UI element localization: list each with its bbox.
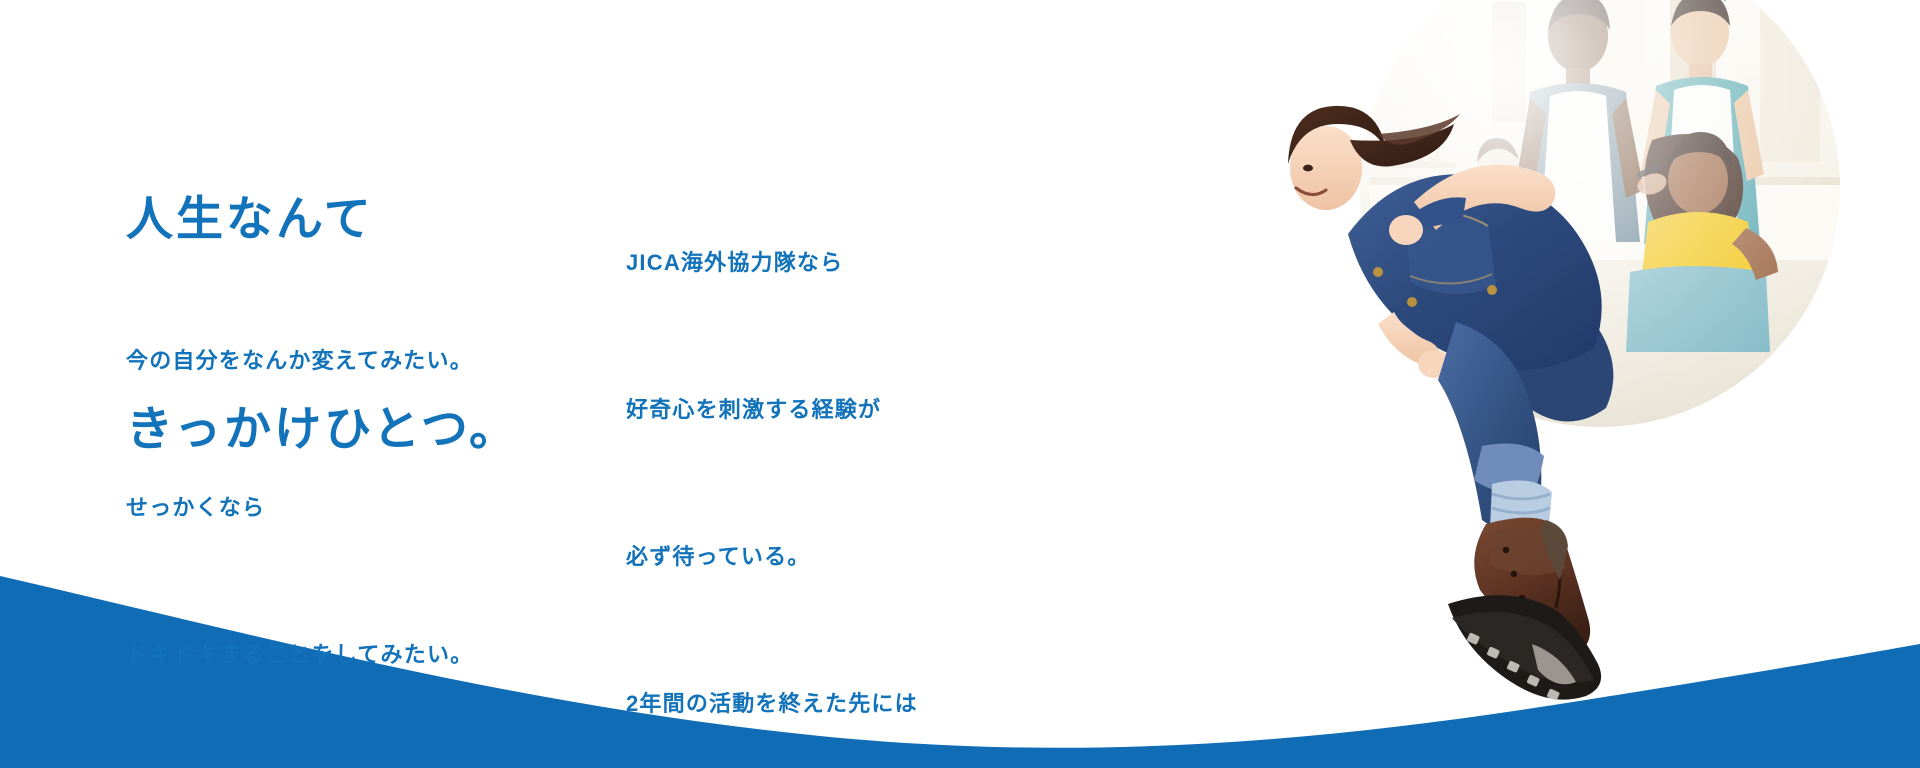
copy-right-line-3: 必ず待っている。 bbox=[626, 532, 995, 581]
salon-scene bbox=[1360, 0, 1840, 442]
seated-client bbox=[1626, 132, 1778, 352]
copy-right-line-1: JICA海外協力隊なら bbox=[626, 238, 995, 287]
styling-hands bbox=[1635, 163, 1670, 198]
copy-left-line-3: ドキドキすることをしてみたい。 bbox=[126, 630, 497, 679]
running-woman-foreground bbox=[1288, 106, 1613, 701]
copy-left-line-1: 今の自分をなんか変えてみたい。 bbox=[126, 336, 497, 385]
stylist-standing-right bbox=[1640, 0, 1764, 244]
copy-left-line-2: せっかくなら bbox=[126, 483, 497, 532]
copy-column-left: 今の自分をなんか変えてみたい。 せっかくなら ドキドキすることをしてみたい。 も… bbox=[126, 238, 497, 768]
copy-right-line-4: 2年間の活動を終えた先には bbox=[626, 679, 995, 728]
stylist-standing-left bbox=[1514, 0, 1644, 242]
copy-column-right: JICA海外協力隊なら 好奇心を刺激する経験が 必ず待っている。 2年間の活動を… bbox=[626, 140, 995, 768]
hero-photo bbox=[1200, 0, 1920, 768]
hero-banner: 人生なんて きっかけひとつ。 今の自分をなんか変えてみたい。 せっかくなら ドキ… bbox=[0, 0, 1920, 768]
copy-right-line-2: 好奇心を刺激する経験が bbox=[626, 385, 995, 434]
brown-boot bbox=[1448, 518, 1601, 701]
